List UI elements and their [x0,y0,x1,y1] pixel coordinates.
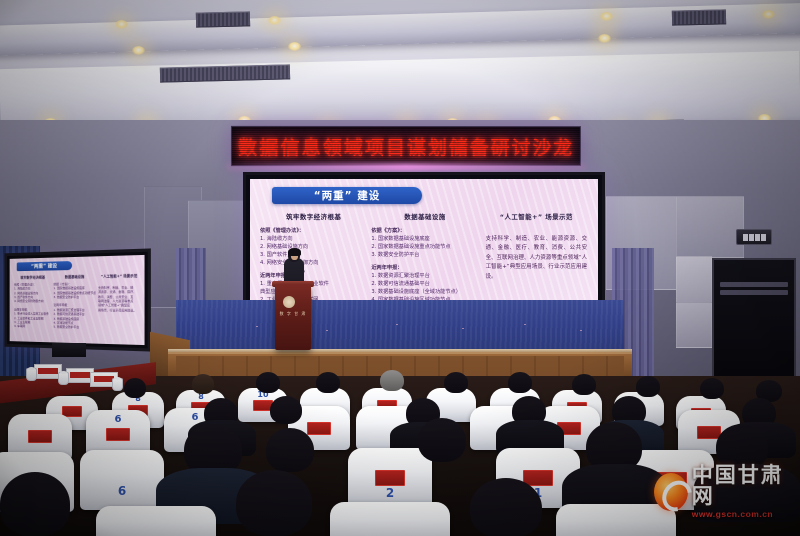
led-banner: 数据信息领域项目谋划储备研讨沙龙 [231,126,581,166]
teacup [26,368,37,381]
slide-list-item: 1. 数据资源汇聚治理平台 [371,272,478,280]
air-vent [196,11,250,27]
audience-head [470,478,542,536]
slide-list-item: 4. 网络安全风险防御方向 [260,259,367,267]
teacup [112,378,123,391]
audience-head [572,374,596,395]
ceiling-downlight [115,20,128,29]
seat-number: 2 [348,486,432,500]
chair-name-card [307,422,331,435]
door-push-bar [720,290,787,295]
exit-door[interactable] [712,258,796,386]
slide-paragraph: 支持科学、制造、农业、能源资源、交通、金融、医疗、教育、消费、公共安全、互联网治… [483,235,590,282]
slide-block-lead: 依据《方案》： [371,227,478,234]
slide-block: 依据《方案》： 1. 国家数据基础设施底座 2. 国家数据基础设施重点功能节点 … [371,227,478,259]
slide-list-item: 1. 海陆缆方向 [260,235,367,243]
wall-monitor-heading: 筑牢数字经济根基 [14,274,52,279]
slide-column-2: 数据基础设施 依据《方案》： 1. 国家数据基础设施底座 2. 国家数据基础设施… [371,211,478,303]
audience-head [256,372,280,393]
wall-monitor-column: 数据基础设施 依据《方案》： 1. 国家数据基础设施底座 2. 国家数据基础设施… [54,274,96,330]
slide-block-list: 1. 海陆缆方向 2. 网络基础设施方向 3. 国产软件方向 4. 网络安全风险… [260,235,367,267]
audience-head [380,370,404,391]
watermark-site-name: 中国甘肃网 [692,465,794,507]
ceiling-downlight [268,16,281,25]
slide-title: “两重” 建设 [272,187,422,204]
wall-monitor-column: 筑牢数字经济根基 依照《管理办法》： 1. 海陆缆方向 2. 网络基础设施方向 … [14,274,52,329]
ceiling-downlight [598,34,611,43]
wall-monitor: “两重” 建设 筑牢数字经济根基 依照《管理办法》： 1. 海陆缆方向 2. 网… [4,248,150,351]
slide-column-heading: “人工智能+” 场景示范 [483,211,590,221]
slide-block: 依照《管理办法》： 1. 海陆缆方向 2. 网络基础设施方向 3. 国产软件方向… [260,227,367,267]
chair-name-card [375,470,405,486]
audience-head [316,372,340,393]
wall-monitor-title: “两重” 建设 [17,261,72,271]
air-vent [672,9,726,25]
wall-monitor-heading: “人工智能+” 场景示范 [98,273,140,279]
wall-monitor-columns: 筑牢数字经济根基 依照《管理办法》： 1. 海陆缆方向 2. 网络基础设施方向 … [14,273,140,331]
presenter-hair [288,248,301,256]
slide-column-heading: 筑牢数字经济根基 [260,211,367,221]
chair-name-card [106,428,130,441]
slide-block: 近两年申报： 1. 数据资源汇聚治理平台 2. 数据可信流通基础平台 3. 数据… [371,264,478,303]
audience-head [700,378,724,399]
audience-head [418,418,466,462]
wall-monitor-column: “人工智能+” 场景示范 支持科学、制造、农业、能 源资源、交通、金融、医疗、 … [98,273,140,331]
air-vent [160,64,290,82]
podium: 数 字 甘 肃 [275,284,311,350]
slide-list-item: 2. 数据可信流通基础平台 [371,280,478,288]
audience-chair [330,502,450,536]
slide-block-lead: 近两年申报： [260,272,367,279]
teacup [58,372,69,385]
audience-chair [96,506,216,536]
audience-head [192,374,214,394]
slide-list-item: 3. 数据基础设施底座（全域功能节点） [371,288,478,296]
watermark-url: www.gscn.com.cn [692,510,794,519]
audience-head [636,376,660,397]
slide-block-list: 1. 数据资源汇聚治理平台 2. 数据可信流通基础平台 3. 数据基础设施底座（… [371,272,478,303]
monitor-stand [52,343,86,357]
audience-head [444,372,468,393]
audience-head [124,378,146,398]
wall-monitor-line: 4. 车联网 [14,324,52,329]
ceiling-downlight [288,42,301,51]
watermark: 中国甘肃网 www.gscn.com.cn [654,466,794,518]
slide-list-item: 1. 国家数据基础设施底座 [371,235,478,243]
slide-block-lead: 依照《管理办法》： [260,227,367,234]
ceiling-downlight [132,46,145,55]
wall-panel [676,302,712,348]
exit-sign-icon [736,229,772,245]
audience-head [236,470,312,536]
gscn-logo-icon [654,473,688,511]
slide-column-3: “人工智能+” 场景示范 支持科学、制造、农业、能源资源、交通、金融、医疗、教育… [483,211,590,303]
chair-name-card [28,430,52,443]
wall-monitor-slide: “两重” 建设 筑牢数字经济根基 依照《管理办法》： 1. 海陆缆方向 2. 网… [10,255,145,345]
audience-chair: 6 [80,450,164,510]
stage-floor [176,300,624,356]
podium-label: 数 字 甘 肃 [277,311,309,317]
podium-emblem-icon [283,296,295,308]
audience-chair: 2 [348,448,432,508]
seat-number: 6 [86,414,150,425]
seat-number: 6 [80,484,164,498]
ceiling-downlight [762,10,775,19]
wall-monitor-line: 用场景、行业示范应用建设。 [98,308,140,313]
photo-canvas: 数据信息领域项目谋划储备研讨沙龙 “两重” 建设 筑牢数字经济根基 依照《管理办… [0,0,800,536]
audience-head [508,372,532,393]
wall-panel [676,196,744,258]
ceiling-downlight [600,12,613,21]
slide-block-lead: 近两年申报： [371,264,478,271]
wall-panel [676,256,712,304]
audience-head [270,396,302,424]
led-banner-text: 数据信息领域项目谋划储备研讨沙龙 [238,132,574,159]
wall-monitor-line: 3. 数据安全防护平台 [54,295,96,299]
wall-monitor-line: 5. 数据安全防护平台 [54,325,96,330]
audience-head [0,472,70,536]
door-push-bar [720,282,787,287]
banner-underlight [226,163,586,171]
slide-list-item: 2. 国家数据基础设施重点功能节点 [371,243,478,251]
slide-list-item: 3. 国产软件方向 [260,251,367,259]
wall-monitor-line: 4. 网络安全风险防御方向 [14,299,52,303]
slide-list-item: 3. 数据安全防护平台 [371,251,478,259]
watermark-text: 中国甘肃网 www.gscn.com.cn [692,465,794,519]
slide-column-heading: 数据基础设施 [371,211,478,221]
slide-block-list: 1. 国家数据基础设施底座 2. 国家数据基础设施重点功能节点 3. 数据安全防… [371,235,478,259]
audience-head [266,428,314,472]
wall-monitor-heading: 数据基础设施 [54,274,96,280]
slide-list-item: 2. 网络基础设施方向 [260,243,367,251]
